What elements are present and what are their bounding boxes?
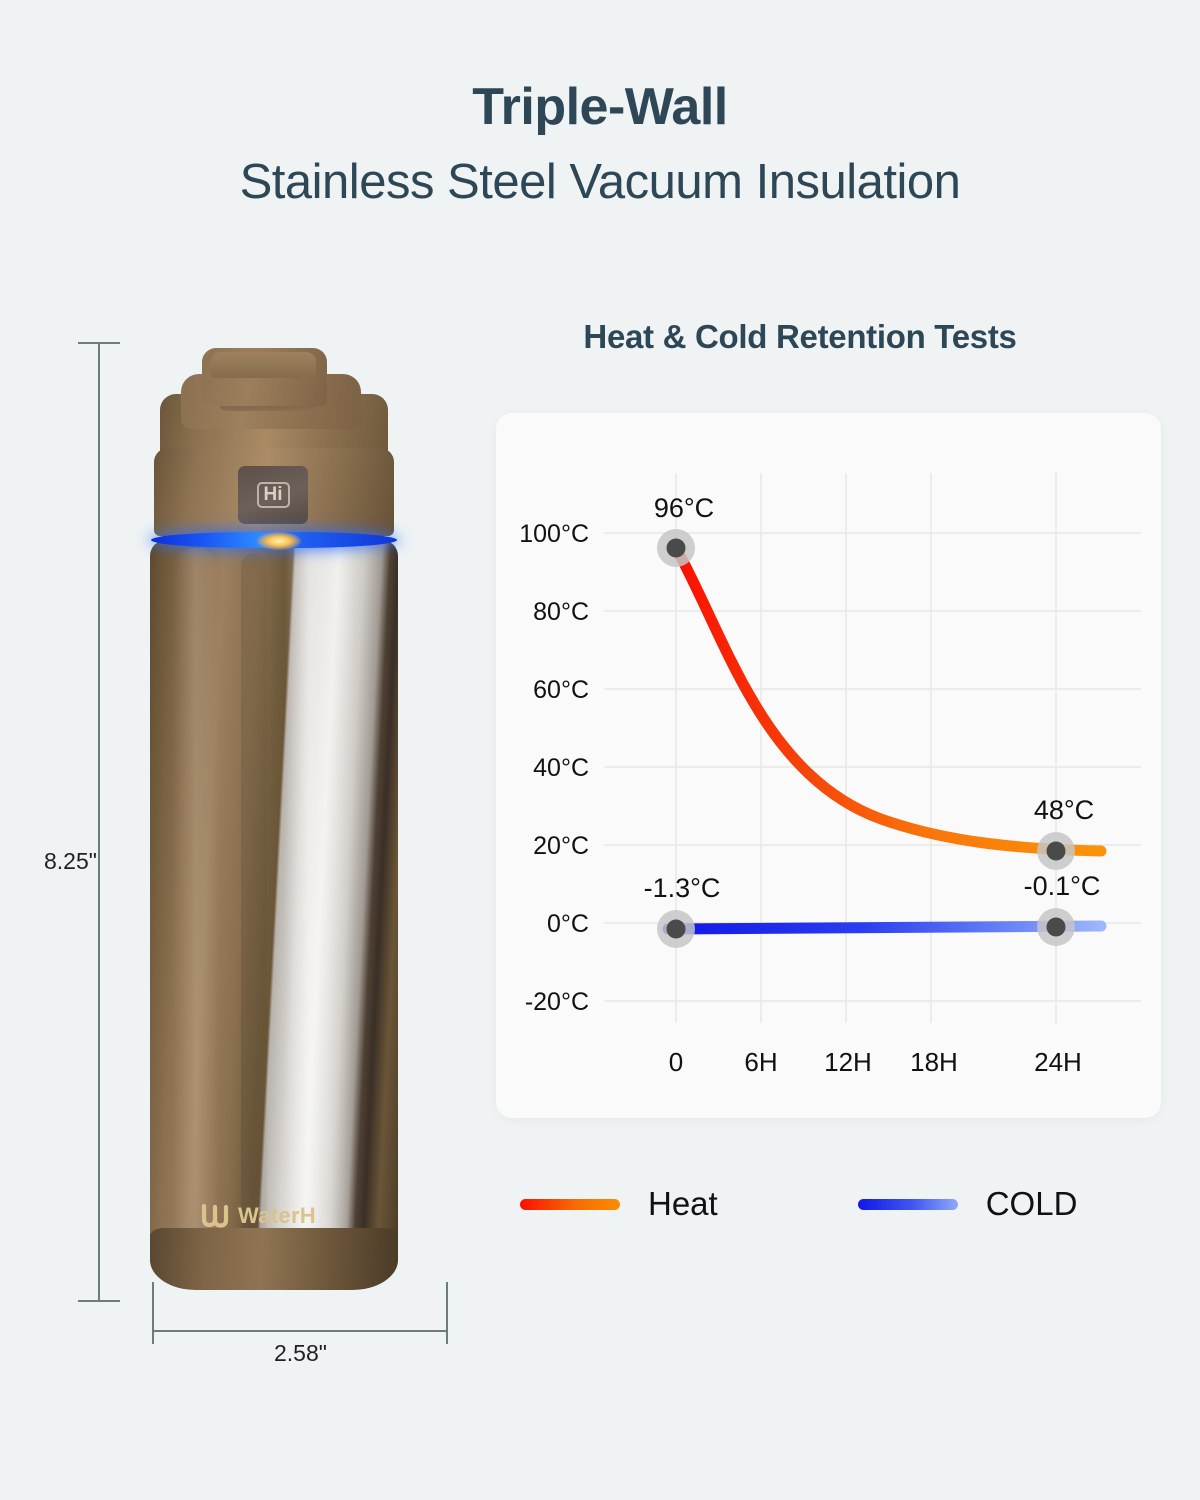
height-dimension-line <box>98 342 100 1302</box>
page-subtitle: Stainless Steel Vacuum Insulation <box>0 157 1200 208</box>
waterh-logo-icon <box>201 1204 229 1228</box>
heat-start-value-label: 96°C <box>654 493 714 523</box>
bottle-gloss-highlight <box>173 548 219 1248</box>
legend-item-cold[interactable]: COLD <box>858 1185 1078 1223</box>
cold-legend-swatch-icon <box>858 1199 958 1210</box>
y-tick-80: 80°C <box>533 598 589 626</box>
cold-end-value-label: -0.1°C <box>1024 871 1101 901</box>
display-text: Hi <box>257 482 290 509</box>
bottle-shadow-band <box>241 553 267 1243</box>
width-dimension-tick-right <box>446 1282 448 1344</box>
cold-marker-end <box>1037 908 1075 946</box>
y-tick-100: 100°C <box>519 520 589 548</box>
height-dimension-label: 8.25" <box>44 848 97 875</box>
cold-curve <box>668 926 1101 929</box>
legend-item-heat[interactable]: Heat <box>520 1185 718 1223</box>
y-tick-0: 0°C <box>547 910 589 938</box>
chart-legend: Heat COLD <box>470 1185 1170 1223</box>
bottle-steel-window <box>285 548 355 1253</box>
legend-label-cold: COLD <box>986 1185 1078 1223</box>
x-tick-18h: 18H <box>910 1047 958 1077</box>
x-tick-12h: 12H <box>824 1047 872 1077</box>
y-tick-40: 40°C <box>533 754 589 782</box>
legend-label-heat: Heat <box>648 1185 718 1223</box>
retention-chart: 100°C 80°C 60°C 40°C 20°C 0°C -20°C 0 6H… <box>496 413 1161 1118</box>
height-dimension-cap-bottom <box>78 1300 120 1302</box>
heat-marker-end <box>1037 832 1075 870</box>
chart-x-axis-labels: 0 6H 12H 18H 24H <box>669 1047 1082 1077</box>
brand-mark: WaterH <box>201 1203 351 1229</box>
chart-gridlines-vertical <box>676 473 1056 1023</box>
y-tick-neg20: -20°C <box>525 988 589 1016</box>
product-illustration: 8.25" 2.58" WaterH Hi <box>0 330 470 1370</box>
chart-y-axis-labels: 100°C 80°C 60°C 40°C 20°C 0°C -20°C <box>519 520 589 1016</box>
bottle-base <box>150 1228 398 1290</box>
cold-marker-start <box>657 910 695 948</box>
bottle-flip-lid-top <box>211 352 316 378</box>
x-tick-24h: 24H <box>1034 1047 1082 1077</box>
x-tick-0: 0 <box>669 1047 683 1077</box>
width-dimension-label: 2.58" <box>274 1340 327 1367</box>
brand-name: WaterH <box>238 1203 316 1229</box>
smart-display-screen: Hi <box>238 466 308 524</box>
chart-section: Heat & Cold Retention Tests <box>470 318 1170 356</box>
y-tick-60: 60°C <box>533 676 589 704</box>
chart-card: 100°C 80°C 60°C 40°C 20°C 0°C -20°C 0 6H… <box>496 413 1161 1118</box>
water-bottle: WaterH Hi <box>145 348 445 1303</box>
width-dimension-line <box>152 1330 448 1332</box>
x-tick-6h: 6H <box>744 1047 777 1077</box>
page-header: Triple-Wall Stainless Steel Vacuum Insul… <box>0 80 1200 208</box>
cold-start-value-label: -1.3°C <box>644 873 721 903</box>
heat-legend-swatch-icon <box>520 1199 620 1210</box>
y-tick-20: 20°C <box>533 832 589 860</box>
heat-end-value-label: 48°C <box>1034 795 1094 825</box>
page-title: Triple-Wall <box>0 80 1200 135</box>
chart-title: Heat & Cold Retention Tests <box>470 318 1130 356</box>
heat-marker-start <box>657 529 695 567</box>
led-glow-flare <box>257 532 301 550</box>
